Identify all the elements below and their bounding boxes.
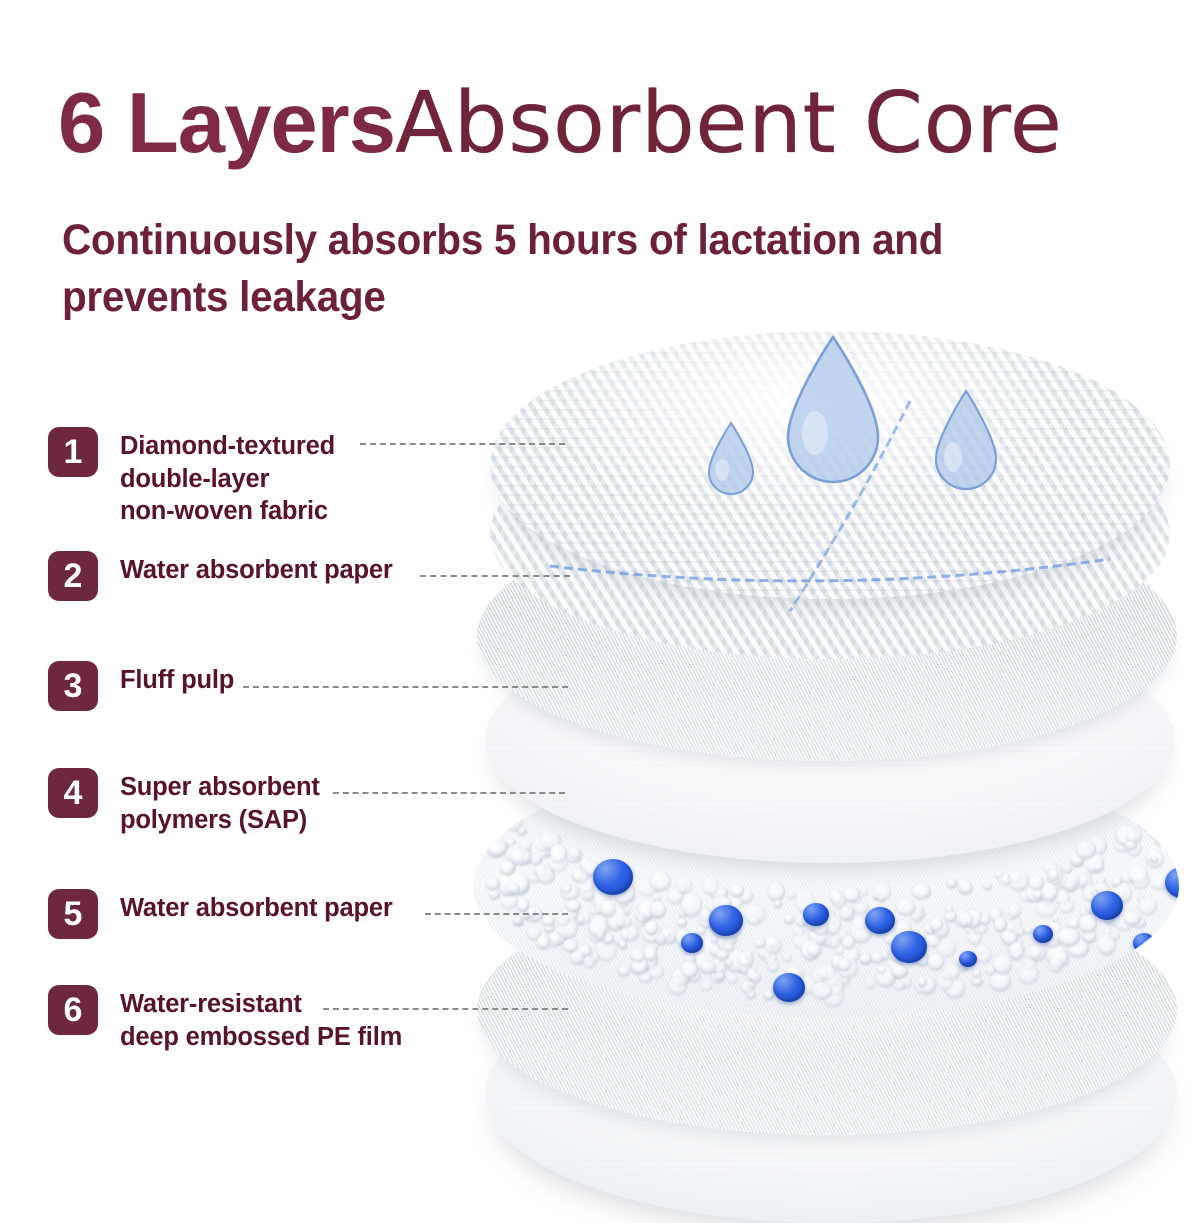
leader-line-2 — [420, 575, 570, 577]
layer-number-badge-1: 1 — [48, 427, 98, 477]
sap-granule — [1036, 901, 1057, 918]
layer-label-text-6: Water-resistant deep embossed PE film — [120, 985, 402, 1053]
layer-label-3[interactable]: 3 Fluff pulp — [48, 661, 234, 711]
layer-number-badge-2: 2 — [48, 551, 98, 601]
sap-granule — [648, 965, 665, 979]
sap-granule — [767, 960, 779, 972]
sap-granule — [937, 973, 953, 991]
sap-granule — [566, 900, 581, 912]
sap-granule — [1009, 870, 1029, 891]
sap-granule — [787, 892, 796, 899]
sap-blue-bead — [681, 933, 703, 953]
sap-granule — [716, 950, 729, 960]
sap-blue-bead — [1091, 891, 1123, 920]
sap-granule — [1138, 896, 1157, 914]
layer-label-5[interactable]: 5 Water absorbent paper — [48, 889, 393, 939]
sap-granule — [896, 899, 916, 915]
sap-granule — [774, 900, 782, 908]
sap-granule — [501, 894, 518, 909]
sap-granule — [510, 848, 531, 865]
sap-granule — [667, 888, 683, 905]
sap-granule — [768, 882, 785, 902]
sap-granule — [1049, 958, 1063, 972]
water-droplet-small-left — [700, 420, 762, 502]
exploded-layer-stack-illustration — [455, 325, 1200, 1165]
sap-granule — [928, 953, 944, 971]
layer-label-text-5: Water absorbent paper — [120, 889, 393, 925]
sap-granule — [765, 936, 781, 954]
leader-line-3 — [243, 686, 568, 688]
sap-granule — [1009, 942, 1024, 959]
sap-granule — [701, 982, 712, 991]
sap-granule — [1109, 931, 1120, 940]
sap-granule — [1018, 964, 1039, 984]
layer-label-2[interactable]: 2 Water absorbent paper — [48, 551, 393, 601]
sap-granule — [1124, 912, 1140, 925]
sap-granule — [563, 939, 578, 952]
leader-line-5 — [425, 913, 568, 915]
layer-label-4[interactable]: 4 Super absorbent polymers (SAP) — [48, 768, 320, 836]
sap-granule — [715, 972, 724, 980]
page-title: 6 LayersAbsorbent Core — [58, 78, 1178, 170]
sap-blue-bead — [1033, 925, 1053, 943]
sap-granule — [486, 877, 500, 890]
sap-granule — [918, 977, 927, 986]
sap-granule — [1064, 866, 1072, 873]
sap-granule — [1029, 875, 1044, 890]
layer-label-text-2: Water absorbent paper — [120, 551, 393, 587]
sap-blue-bead — [1133, 933, 1155, 953]
sap-granule — [644, 946, 656, 961]
sap-granule — [1025, 945, 1042, 959]
sap-granule — [727, 973, 738, 984]
layer-number-badge-5: 5 — [48, 889, 98, 939]
sap-granule — [616, 915, 632, 928]
sap-granule — [561, 884, 571, 893]
sap-granule — [738, 951, 754, 967]
sap-granule — [580, 884, 594, 900]
sap-granule — [1061, 873, 1080, 890]
sap-granule — [980, 915, 989, 925]
sap-blue-bead — [709, 905, 743, 936]
sap-granule — [548, 852, 568, 871]
sap-granule — [537, 935, 549, 949]
sap-granule — [506, 883, 520, 894]
sap-granule — [881, 951, 889, 960]
sap-granule — [1094, 863, 1104, 872]
sap-granule — [878, 895, 886, 902]
sap-granule — [513, 916, 522, 925]
sap-granule — [961, 883, 973, 894]
sap-blue-bead — [593, 859, 633, 895]
sap-granule — [930, 918, 943, 930]
leader-line-1 — [360, 443, 565, 445]
sap-granule — [578, 912, 591, 924]
sap-granule — [959, 912, 973, 927]
sap-granule — [839, 906, 852, 920]
sap-granule — [812, 967, 828, 983]
sap-granule — [650, 901, 666, 918]
layer-label-text-3: Fluff pulp — [120, 661, 234, 697]
sap-granule — [635, 919, 643, 927]
sap-granule — [583, 956, 597, 968]
title-light-part: Absorbent Core — [395, 74, 1063, 173]
title-bold-part: 6 Layers — [58, 76, 395, 171]
sap-granule — [679, 911, 686, 917]
sap-granule — [730, 884, 744, 898]
sap-granule — [669, 977, 687, 995]
sap-granule — [1009, 903, 1021, 917]
layer-label-6[interactable]: 6 Water-resistant deep embossed PE film — [48, 985, 402, 1053]
infographic-canvas: 6 LayersAbsorbent Core Continuously abso… — [0, 0, 1200, 1200]
sap-blue-bead — [773, 973, 805, 1002]
layer-label-text-1: Diamond-textured double-layer non-woven … — [120, 427, 335, 528]
layer-label-text-4: Super absorbent polymers (SAP) — [120, 768, 320, 836]
leader-line-4 — [333, 792, 565, 794]
layer-number-badge-3: 3 — [48, 661, 98, 711]
water-droplet-large-center — [772, 333, 894, 499]
layer-number-badge-6: 6 — [48, 985, 98, 1035]
sap-granule — [1132, 872, 1150, 888]
sap-granule — [711, 937, 718, 943]
sap-blue-bead — [865, 907, 895, 934]
sap-granule — [865, 977, 876, 989]
sap-granule — [650, 871, 671, 891]
sap-granule — [945, 911, 957, 922]
water-droplet-medium-right — [925, 387, 1007, 503]
sap-granule — [842, 935, 855, 948]
sap-granule — [681, 961, 698, 979]
layer-label-1[interactable]: 1 Diamond-textured double-layer non-wove… — [48, 427, 335, 528]
sap-granule — [489, 891, 499, 899]
sap-granule — [656, 934, 666, 944]
sap-granule — [1058, 928, 1080, 946]
sap-granule — [572, 868, 589, 883]
sap-granule — [703, 877, 719, 895]
page-subtitle: Continuously absorbs 5 hours of lactatio… — [62, 212, 964, 326]
sap-granule — [1048, 869, 1059, 881]
sap-granule — [912, 884, 931, 899]
layer-number-badge-4: 4 — [48, 768, 98, 818]
sap-granule — [530, 876, 539, 883]
sap-granule — [619, 940, 626, 948]
sap-granule — [568, 847, 581, 858]
sap-granule — [488, 808, 507, 825]
